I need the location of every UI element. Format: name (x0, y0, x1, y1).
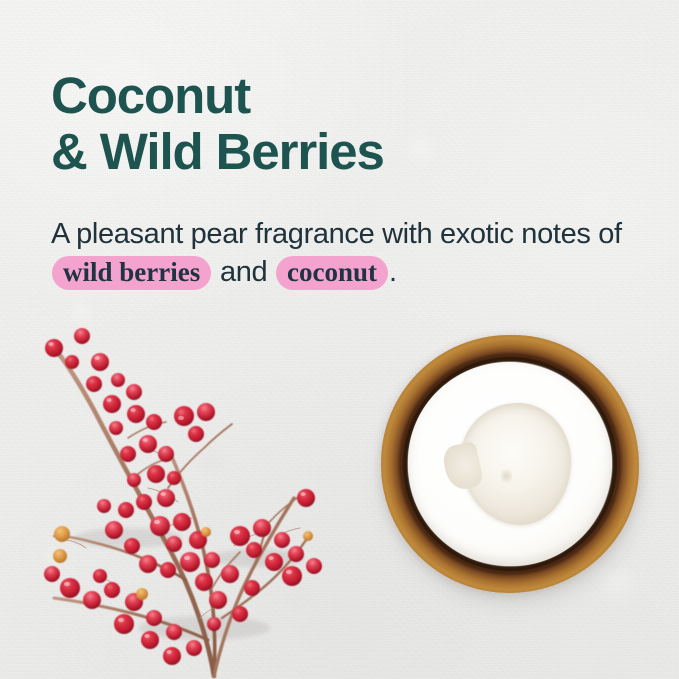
coconut-flesh (408, 362, 612, 566)
highlight-wild-berries: wild berries (52, 256, 211, 290)
imagery-row (0, 288, 679, 679)
berry-branch-photo (8, 288, 348, 679)
fragrance-description: A pleasant pear fragrance with exotic no… (51, 215, 636, 291)
description-text-part-1: A pleasant pear fragrance with exotic no… (51, 218, 622, 250)
description-text-part-2: and (212, 256, 275, 288)
description-text-part-3: . (389, 256, 397, 288)
highlight-coconut: coconut (276, 256, 388, 290)
product-fragrance-card: Coconut & Wild Berries A pleasant pear f… (0, 0, 679, 679)
coconut-photo (381, 335, 639, 593)
page-title: Coconut & Wild Berries (51, 68, 651, 180)
